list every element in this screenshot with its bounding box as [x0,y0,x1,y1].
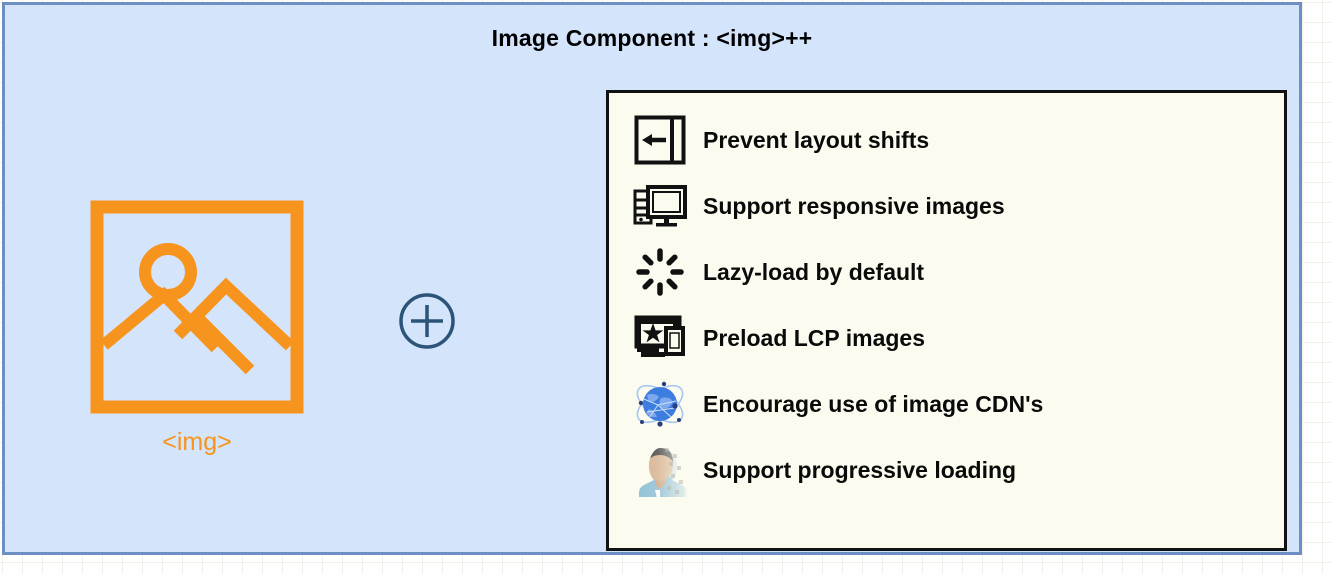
list-item-label: Preload LCP images [697,325,925,352]
list-item-label: Prevent layout shifts [697,127,929,154]
img-element-label: <img> [83,430,311,455]
list-item[interactable]: Support progressive loading [609,437,1284,503]
image-placeholder-icon [90,200,304,422]
loading-spinner-icon [623,242,697,302]
desktop-monitor-icon [623,176,697,236]
list-item-label: Encourage use of image CDN's [697,391,1043,418]
list-item-label: Support progressive loading [697,457,1016,484]
list-item[interactable]: Encourage use of image CDN's [609,371,1284,437]
monitor-star-phone-icon [623,308,697,368]
optimizations-card: Prevent layout shifts Support responsive… [606,90,1287,551]
list-item[interactable]: Lazy-load by default [609,239,1284,305]
page-title: Image Component : <img>++ [5,25,1299,52]
globe-network-icon [623,374,697,434]
plus-circle-icon [397,291,457,351]
blurred-avatar-icon [623,440,697,500]
list-item-label: Lazy-load by default [697,259,924,286]
slide-panel: Image Component : <img>++ <img> Optimiza… [2,2,1302,555]
list-item[interactable]: Prevent layout shifts [609,107,1284,173]
list-item[interactable]: Support responsive images [609,173,1284,239]
list-item-label: Support responsive images [697,193,1005,220]
layout-shift-icon [623,110,697,170]
img-element-group: <img> [83,200,311,455]
list-item[interactable]: Preload LCP images [609,305,1284,371]
